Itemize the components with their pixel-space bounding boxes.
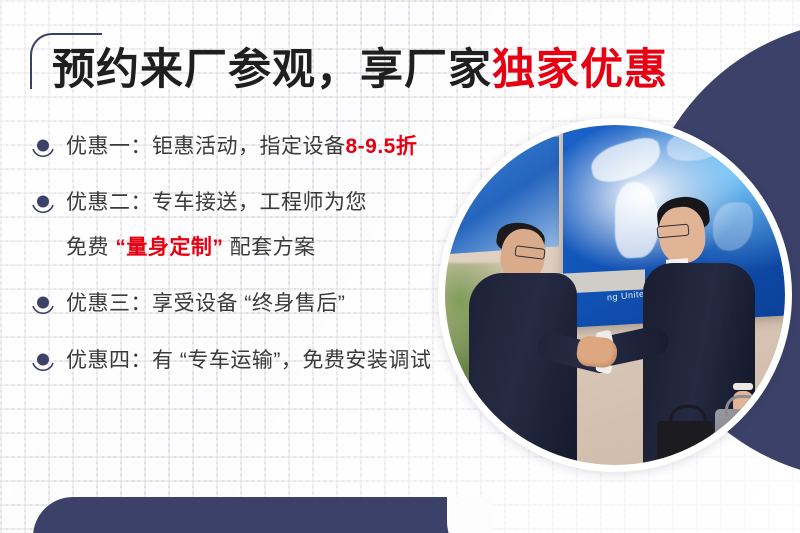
photo-map-shape	[667, 129, 725, 162]
benefit-accent: “量身定制”	[115, 236, 223, 259]
list-item: 优惠二：专车接送，工程师为您 免费 “量身定制” 配套方案	[28, 188, 468, 263]
promo-banner: 预约来厂参观，享厂家独家优惠 优惠一：钜惠活动，指定设备8-9.5折 优惠二：专…	[0, 0, 800, 533]
benefit-text: 优惠三：享受设备 “终身售后”	[66, 292, 345, 315]
photo-content: ng United ited	[445, 125, 785, 465]
benefit-text-line: 优惠四：有 “专车运输”，免费安装调试	[66, 346, 468, 376]
benefit-text: 优惠二：专车接送，工程师为您	[66, 191, 367, 214]
photo-map-shape	[588, 134, 664, 187]
benefit-text: 优惠一：钜惠活动，指定设备	[66, 135, 346, 158]
handshake-photo: ng United ited	[438, 118, 792, 472]
photo-person-left-suit	[469, 273, 577, 465]
list-item: 优惠三：享受设备 “终身售后”	[28, 289, 468, 319]
benefit-text: 优惠四：有 “专车运输”，免费安装调试	[66, 349, 431, 372]
navy-bottom-bar	[33, 497, 493, 533]
list-item: 优惠四：有 “专车运输”，免费安装调试	[28, 346, 468, 376]
benefit-text-line-2: 免费 “量身定制” 配套方案	[66, 233, 468, 263]
bullet-dot-icon	[30, 352, 56, 374]
photo-person-right-watch	[733, 383, 753, 390]
benefit-text-line: 优惠三：享受设备 “终身售后”	[66, 289, 468, 319]
benefit-list: 优惠一：钜惠活动，指定设备8-9.5折 优惠二：专车接送，工程师为您 免费 “量…	[28, 132, 468, 402]
photo-gray-bag	[715, 409, 767, 455]
photo-black-bag	[657, 421, 713, 465]
page-title-accent: 独家优惠	[492, 46, 668, 94]
page-title: 预约来厂参观，享厂家独家优惠	[52, 46, 668, 95]
photo-map-shape	[713, 201, 753, 251]
benefit-accent: 8-9.5折	[346, 135, 418, 158]
page-title-main: 预约来厂参观，享厂家	[52, 46, 492, 94]
bullet-dot-icon	[30, 194, 56, 216]
bullet-dot-icon	[30, 138, 56, 160]
list-item: 优惠一：钜惠活动，指定设备8-9.5折	[28, 132, 468, 162]
benefit-text-line: 优惠一：钜惠活动，指定设备8-9.5折	[66, 132, 468, 162]
photo-map-shape	[615, 181, 659, 259]
benefit-text-pre: 免费	[66, 236, 115, 259]
benefit-text-line: 优惠二：专车接送，工程师为您	[66, 188, 468, 218]
bullet-dot-icon	[30, 295, 56, 317]
benefit-text-post: 配套方案	[223, 236, 315, 259]
photo-handshake	[576, 335, 619, 369]
